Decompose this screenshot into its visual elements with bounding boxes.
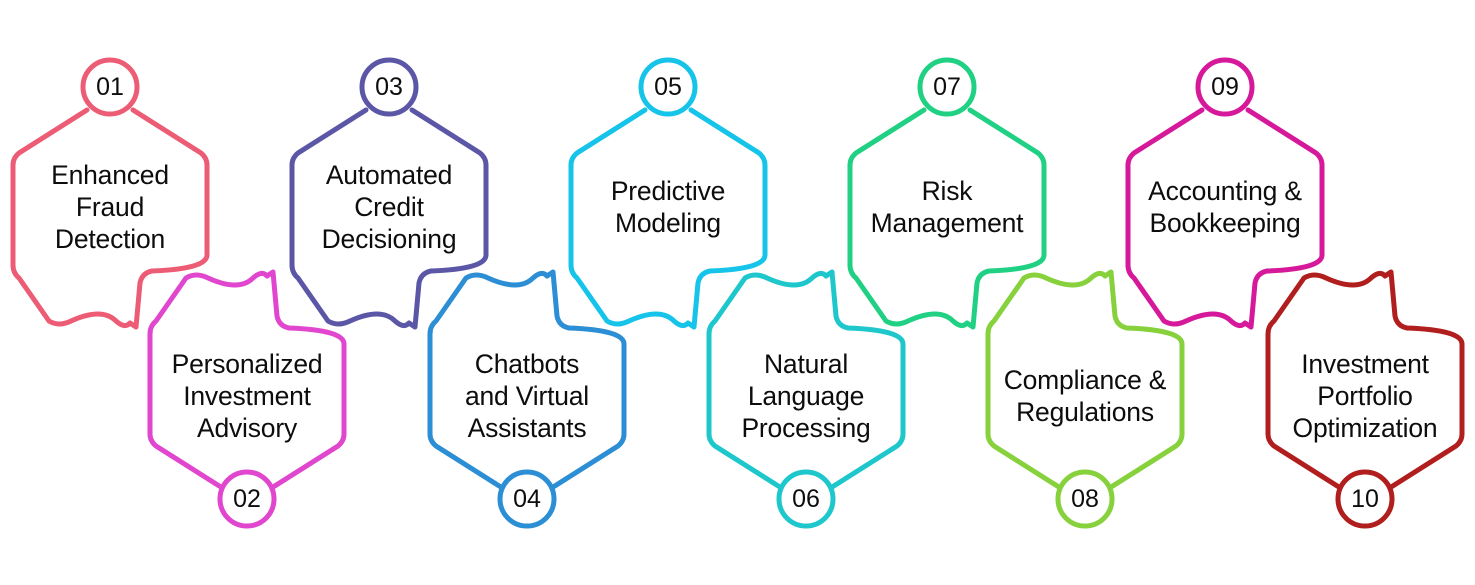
number-badge-circle <box>362 60 416 114</box>
number-badge-circle <box>920 60 974 114</box>
infographic-canvas: 01Enhanced Fraud Detection02Personalized… <box>0 0 1475 585</box>
hexagon-node-02[interactable] <box>150 272 344 526</box>
hexagon-node-06[interactable] <box>709 272 903 526</box>
hexagon-outline <box>13 110 207 327</box>
hexagon-node-08[interactable] <box>988 272 1182 526</box>
hexagon-node-10[interactable] <box>1268 272 1462 526</box>
number-badge-circle <box>641 60 695 114</box>
hexagon-node-09[interactable] <box>1128 60 1322 327</box>
hexagon-node-04[interactable] <box>430 272 624 526</box>
number-badge-circle <box>83 60 137 114</box>
number-badge-circle <box>1198 60 1252 114</box>
hexagon-shape-layer <box>0 0 1475 585</box>
hexagon-outline <box>1268 272 1462 489</box>
number-badge-circle <box>500 472 554 526</box>
number-badge-circle <box>1058 472 1112 526</box>
number-badge-circle <box>1338 472 1392 526</box>
number-badge-circle <box>779 472 833 526</box>
number-badge-circle <box>220 472 274 526</box>
